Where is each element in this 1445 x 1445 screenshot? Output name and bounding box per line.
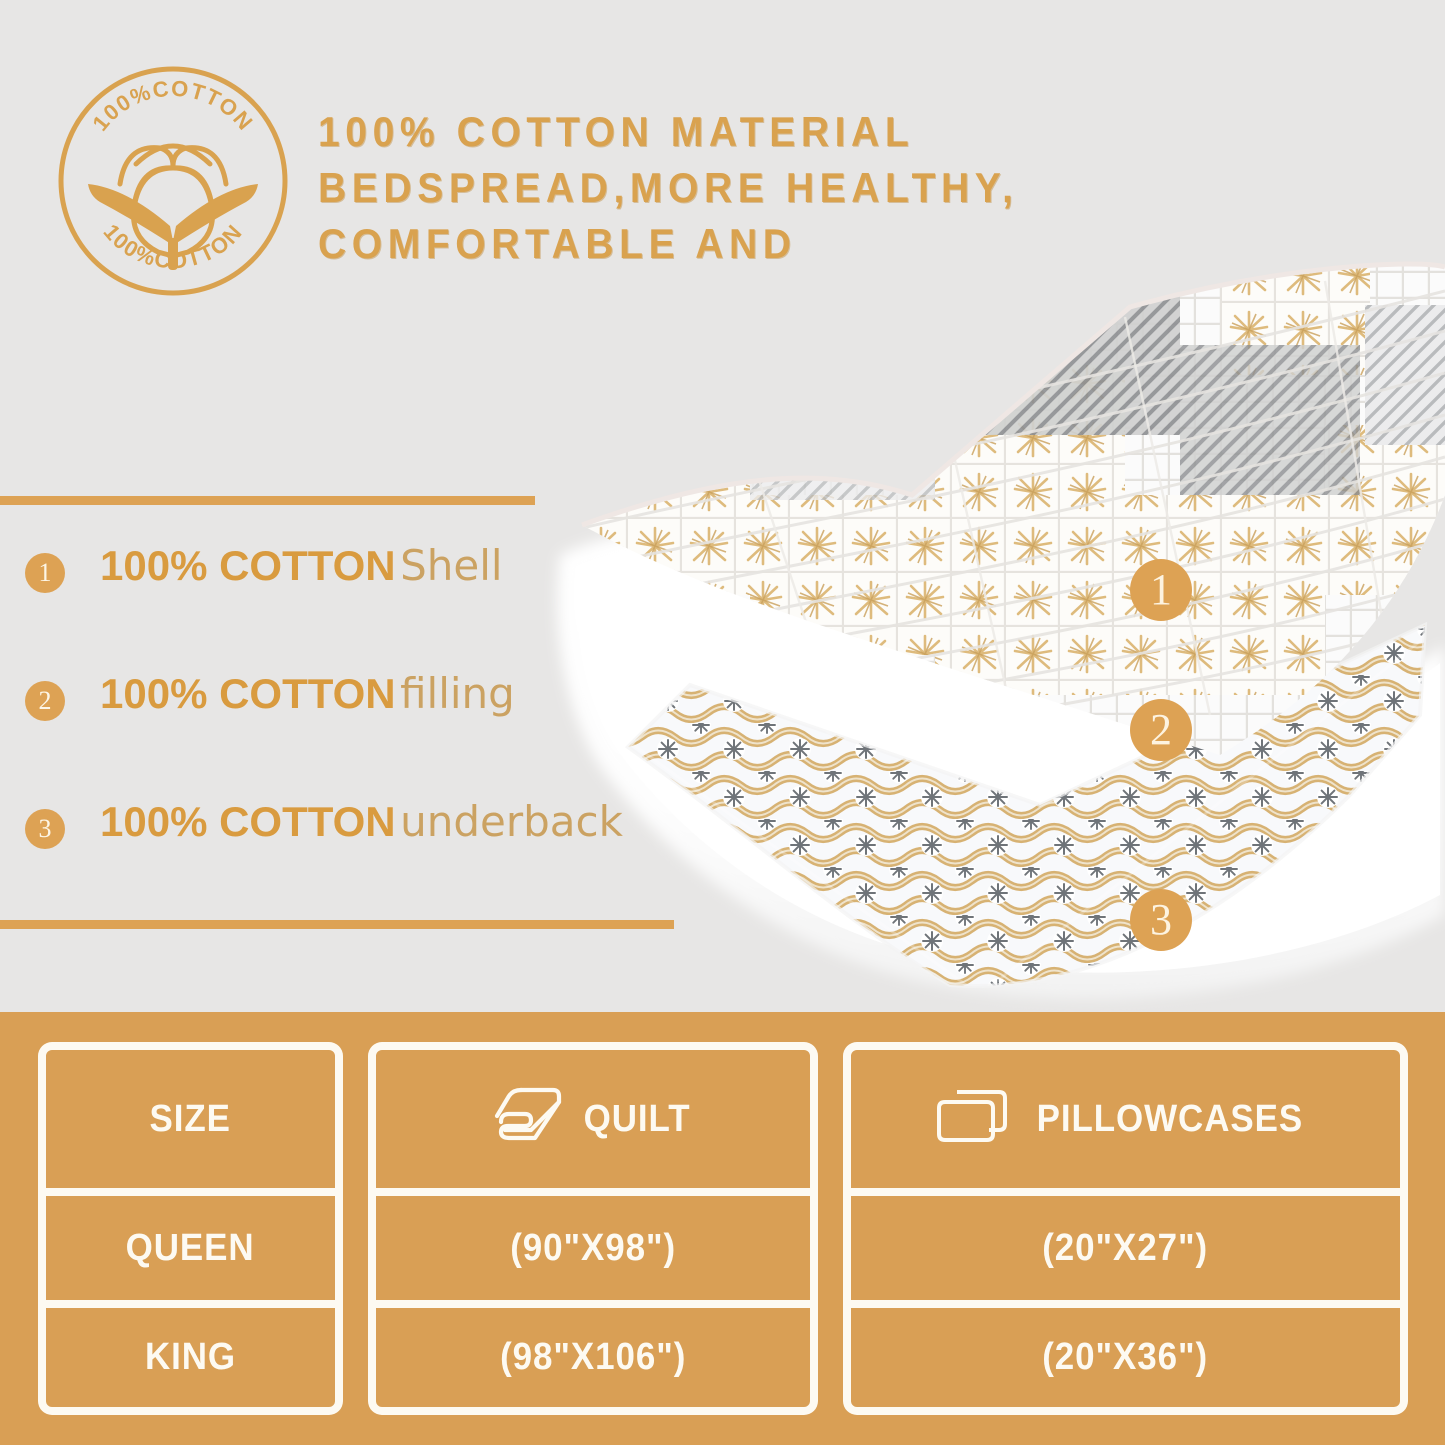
- folded-quilt-icon: [491, 1086, 563, 1153]
- cell-size-queen: QUEEN: [126, 1227, 255, 1270]
- cell-pillowcases-king: (20"X36"): [1043, 1336, 1209, 1379]
- table-row: (20"X27"): [843, 1192, 1408, 1304]
- table-row: (20"X36"): [843, 1304, 1408, 1415]
- cotton-boll-icon: 100%COTTON 100%COTTON: [48, 56, 298, 306]
- feature-text-2: 100% COTTON filling: [100, 669, 515, 718]
- feature-light-2: filling: [400, 669, 515, 718]
- feature-number-2: 2: [25, 681, 65, 721]
- photo-marker-2: 2: [1130, 699, 1192, 761]
- table-header-size-label: SIZE: [150, 1098, 231, 1141]
- photo-marker-1: 1: [1130, 559, 1192, 621]
- pillowcases-icon: [937, 1088, 1009, 1151]
- column-gap: [818, 1042, 843, 1192]
- table-row: (90"X98"): [368, 1192, 818, 1304]
- table-header-quilt-label: QUILT: [584, 1098, 691, 1141]
- cell-quilt-queen: (90"X98"): [510, 1227, 676, 1270]
- table-header-quilt: QUILT: [368, 1042, 818, 1192]
- table-row: QUEEN: [38, 1192, 343, 1304]
- cell-size-king: KING: [145, 1336, 236, 1379]
- size-table: SIZE QUILT: [38, 1042, 1408, 1415]
- hero-section: 100%COTTON 100%COTTON: [0, 0, 1445, 1012]
- feature-strong-3: 100% COTTON: [100, 798, 396, 845]
- column-gap: [818, 1304, 843, 1415]
- headline-line-1: 100% COTTON MATERIAL: [318, 104, 1053, 160]
- feature-item-2: 2 100% COTTON filling: [0, 673, 720, 801]
- cell-quilt-king: (98"X106"): [500, 1336, 686, 1379]
- cell-pillowcases-queen: (20"X27"): [1043, 1227, 1209, 1270]
- table-row: KING: [38, 1304, 343, 1415]
- column-gap: [343, 1042, 368, 1192]
- feature-light-3: underback: [400, 797, 623, 846]
- feature-light-1: Shell: [400, 541, 502, 590]
- feature-list: 1 100% COTTON Shell 2 100% COTTON fillin…: [0, 545, 720, 929]
- column-gap: [343, 1304, 368, 1415]
- feature-number-3: 3: [25, 809, 65, 849]
- feature-strong-1: 100% COTTON: [100, 542, 396, 589]
- column-gap: [818, 1192, 843, 1304]
- feature-text-1: 100% COTTON Shell: [100, 541, 503, 590]
- size-table-panel: SIZE QUILT: [0, 1012, 1445, 1445]
- table-header-pillowcases: PILLOWCASES: [843, 1042, 1408, 1192]
- infographic-root: 100%COTTON 100%COTTON: [0, 0, 1445, 1445]
- table-row: (98"X106"): [368, 1304, 818, 1415]
- feature-text-3: 100% COTTON underback: [100, 797, 623, 846]
- feature-number-1: 1: [25, 553, 65, 593]
- column-gap: [343, 1192, 368, 1304]
- feature-item-1: 1 100% COTTON Shell: [0, 545, 720, 673]
- divider-top: [0, 496, 535, 505]
- photo-marker-3: 3: [1130, 889, 1192, 951]
- feature-strong-2: 100% COTTON: [100, 670, 396, 717]
- feature-item-3: 3 100% COTTON underback: [0, 801, 720, 929]
- table-header-pillowcases-label: PILLOWCASES: [1036, 1098, 1303, 1141]
- table-header-size: SIZE: [38, 1042, 343, 1192]
